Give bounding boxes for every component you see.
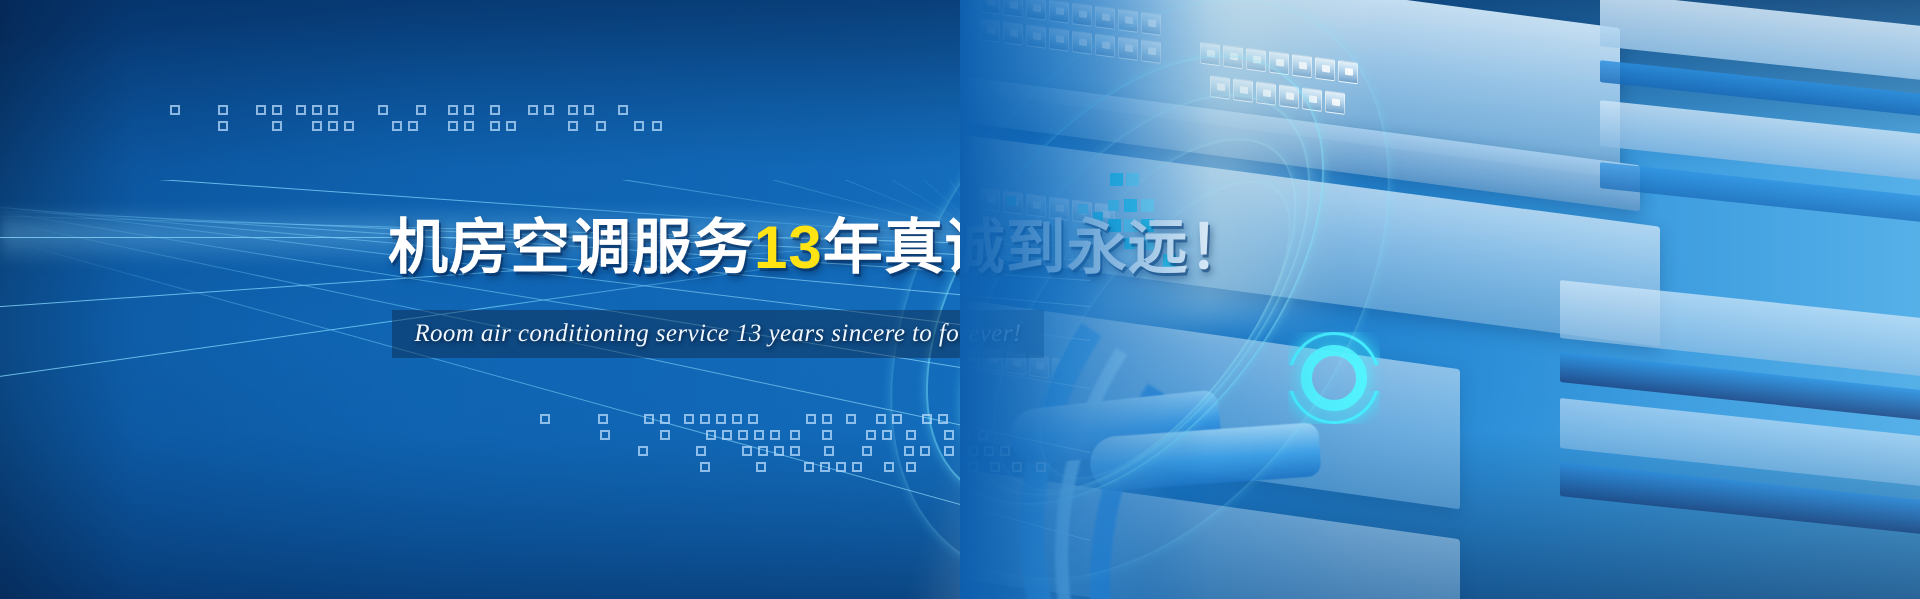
decor-square	[774, 446, 784, 456]
decor-square	[490, 105, 500, 115]
decor-square	[568, 105, 578, 115]
photo-edge-fade	[960, 0, 1920, 599]
decor-square	[884, 462, 894, 472]
decor-square	[256, 105, 266, 115]
decor-square	[568, 121, 578, 131]
decor-square	[272, 105, 282, 115]
decor-square	[528, 105, 538, 115]
decor-square	[738, 430, 748, 440]
decor-square	[378, 105, 388, 115]
headline-prefix: 机房空调服务	[388, 214, 754, 281]
decor-square	[644, 414, 654, 424]
decor-square	[600, 430, 610, 440]
decor-square	[596, 121, 606, 131]
decor-square	[638, 446, 648, 456]
decor-square	[506, 121, 516, 131]
decor-square	[920, 446, 930, 456]
decor-square	[822, 414, 832, 424]
decor-square	[836, 462, 846, 472]
decor-square	[754, 430, 764, 440]
decor-square	[756, 462, 766, 472]
decor-square	[906, 462, 916, 472]
decor-square	[770, 430, 780, 440]
decor-square	[490, 121, 500, 131]
decor-square	[938, 414, 948, 424]
decor-square	[392, 121, 402, 131]
decor-square	[660, 414, 670, 424]
decor-square	[416, 105, 426, 115]
decor-square	[906, 430, 916, 440]
decor-square	[700, 414, 710, 424]
decor-square	[296, 105, 306, 115]
decor-square	[748, 414, 758, 424]
decor-square	[464, 105, 474, 115]
decor-square	[806, 414, 816, 424]
decor-square	[660, 430, 670, 440]
decor-square	[312, 121, 322, 131]
decor-square	[408, 121, 418, 131]
decor-square	[922, 414, 932, 424]
decor-square	[618, 105, 628, 115]
decor-square	[696, 446, 706, 456]
decor-square	[824, 446, 834, 456]
decor-square	[732, 414, 742, 424]
decor-square	[540, 414, 550, 424]
server-switch-and-network-cables-photo	[960, 0, 1920, 599]
decor-square	[272, 121, 282, 131]
subtitle-band: Room air conditioning service 13 years s…	[392, 310, 1044, 358]
decor-square	[448, 105, 458, 115]
decor-square	[170, 105, 180, 115]
decor-square	[820, 462, 830, 472]
decor-square	[706, 430, 716, 440]
decor-square	[876, 414, 886, 424]
decor-square	[882, 430, 892, 440]
decor-square	[790, 430, 800, 440]
decor-square	[862, 446, 872, 456]
decor-square	[218, 105, 228, 115]
decor-square	[328, 105, 338, 115]
subtitle-text: Room air conditioning service 13 years s…	[392, 310, 1044, 358]
decor-square	[742, 446, 752, 456]
decor-square	[328, 121, 338, 131]
decor-square	[634, 121, 644, 131]
decor-square	[684, 414, 694, 424]
decor-square	[344, 121, 354, 131]
decor-square	[464, 121, 474, 131]
headline-years-number: 13	[754, 214, 823, 281]
decor-square	[944, 446, 954, 456]
decor-square	[448, 121, 458, 131]
decor-square	[944, 430, 954, 440]
decor-square	[822, 430, 832, 440]
promo-banner: 机房空调服务13年真诚到永远！ Room air conditioning se…	[0, 0, 1920, 599]
decor-square	[804, 462, 814, 472]
decor-square	[716, 414, 726, 424]
decor-square	[758, 446, 768, 456]
decor-square	[904, 446, 914, 456]
decor-square	[218, 121, 228, 131]
decor-square	[866, 430, 876, 440]
decor-square	[544, 105, 554, 115]
decor-square	[892, 414, 902, 424]
decor-square	[852, 462, 862, 472]
decor-square	[846, 414, 856, 424]
decor-square	[790, 446, 800, 456]
decor-square	[584, 105, 594, 115]
decor-square	[722, 430, 732, 440]
decor-square	[598, 414, 608, 424]
decor-square	[652, 121, 662, 131]
decor-square	[312, 105, 322, 115]
decor-square	[700, 462, 710, 472]
